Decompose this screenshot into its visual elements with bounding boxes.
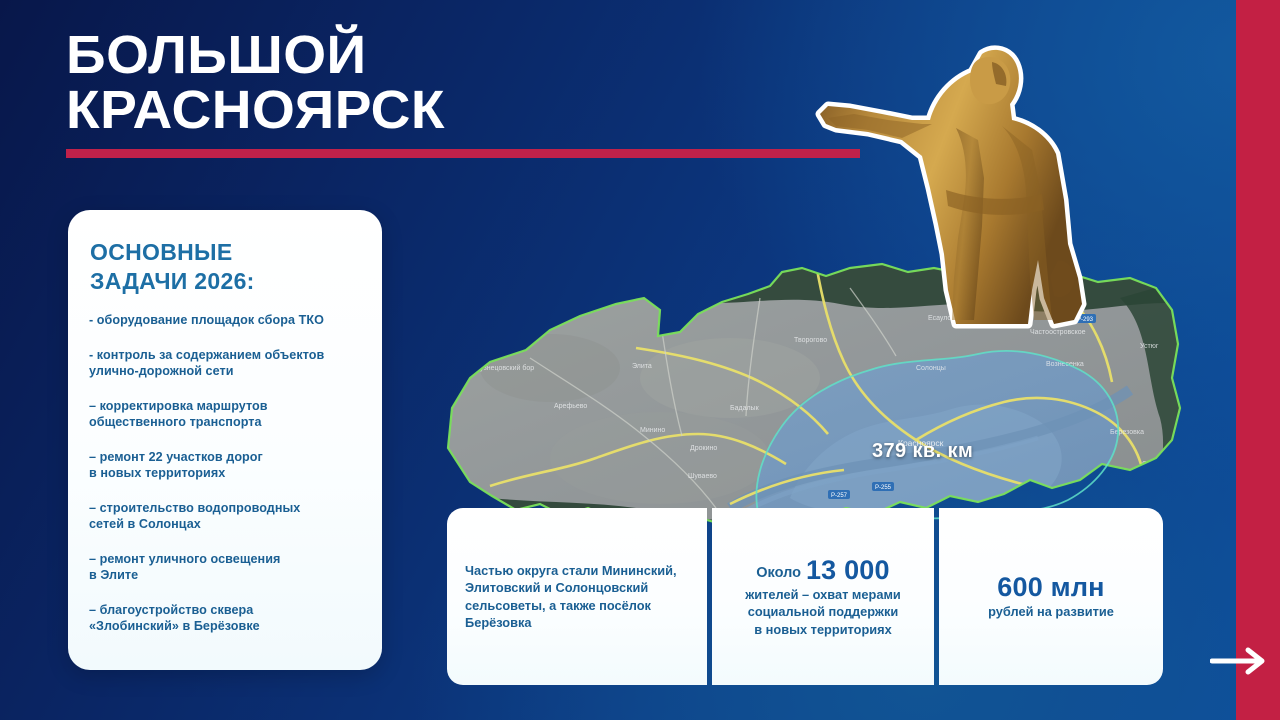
slide-title: БОЛЬШОЙ КРАСНОЯРСК	[66, 28, 906, 138]
map-area-label: 379 кв. км	[872, 440, 973, 463]
tasks-heading-line-2: ЗАДАЧИ 2026:	[90, 267, 360, 296]
svg-text:Вознесенка: Вознесенка	[1046, 361, 1084, 368]
statue-image	[806, 28, 1106, 338]
svg-text:Солонцы: Солонцы	[916, 365, 946, 372]
stat-funding-value: 600 млн	[957, 572, 1145, 603]
statue-svg	[806, 28, 1106, 338]
svg-text:Минино: Минино	[640, 427, 665, 434]
slide-root: БОЛЬШОЙ КРАСНОЯРСК	[0, 0, 1280, 720]
stat-residents-headline: Около13 000	[730, 555, 916, 586]
title-underline-rule	[66, 149, 860, 158]
task-item: – ремонт уличного освещения в Элите	[89, 551, 369, 584]
task-item: – корректировка маршрутов общественного …	[89, 398, 369, 431]
title-line-2: КРАСНОЯРСК	[66, 83, 923, 138]
svg-text:Бадалык: Бадалык	[730, 405, 760, 412]
svg-text:Березовка: Березовка	[1110, 429, 1144, 436]
svg-text:Элита: Элита	[632, 363, 652, 370]
svg-text:Арефьево: Арефьево	[554, 403, 587, 410]
next-slide-button[interactable]	[1206, 644, 1270, 678]
svg-text:Зеледеево: Зеледеево	[562, 285, 597, 292]
task-item: – ремонт 22 участков дорог в новых терри…	[89, 449, 369, 482]
stat-funding-sub: рублей на развитие	[957, 603, 1145, 621]
stat-card-funding: 600 млн рублей на развитие	[939, 508, 1163, 685]
stat-residents-value: 13 000	[806, 555, 890, 585]
svg-text:Шуваево: Шуваево	[688, 473, 717, 480]
stat-card-residents: Около13 000 жителей – охват мерами социа…	[712, 508, 934, 685]
stat-residents-prefix: Около	[756, 565, 801, 581]
right-accent-band	[1236, 0, 1280, 720]
task-item: - оборудование площадок сбора ТКО	[89, 312, 369, 329]
svg-text:Р-257: Р-257	[831, 493, 848, 499]
svg-text:Дрокино: Дрокино	[690, 445, 717, 452]
tasks-list: - оборудование площадок сбора ТКО - конт…	[89, 312, 369, 653]
tasks-card: ОСНОВНЫЕ ЗАДАЧИ 2026: - оборудование пло…	[68, 210, 382, 670]
stats-row: Частью округа стали Мининский, Элитовски…	[447, 508, 1163, 685]
tasks-card-heading: ОСНОВНЫЕ ЗАДАЧИ 2026:	[90, 238, 360, 296]
stat-card-territory: Частью округа стали Мининский, Элитовски…	[447, 508, 707, 685]
task-item: – благоустройство сквера «Злобинский» в …	[89, 602, 369, 635]
stat-residents-sub: жителей – охват мерами социальной поддер…	[730, 586, 916, 639]
task-item: – строительство водопроводных сетей в Со…	[89, 500, 369, 533]
arrow-right-icon	[1210, 646, 1270, 676]
title-line-1: БОЛЬШОЙ	[66, 28, 923, 83]
tasks-heading-line-1: ОСНОВНЫЕ	[90, 238, 360, 267]
svg-text:Творогово: Творогово	[794, 337, 827, 344]
stat-territory-text: Частью округа стали Мининский, Элитовски…	[465, 562, 689, 632]
task-item: - контроль за содержанием объектов уличн…	[89, 347, 369, 380]
svg-text:Устюг: Устюг	[1140, 343, 1159, 350]
svg-text:Р-255: Р-255	[875, 485, 892, 491]
